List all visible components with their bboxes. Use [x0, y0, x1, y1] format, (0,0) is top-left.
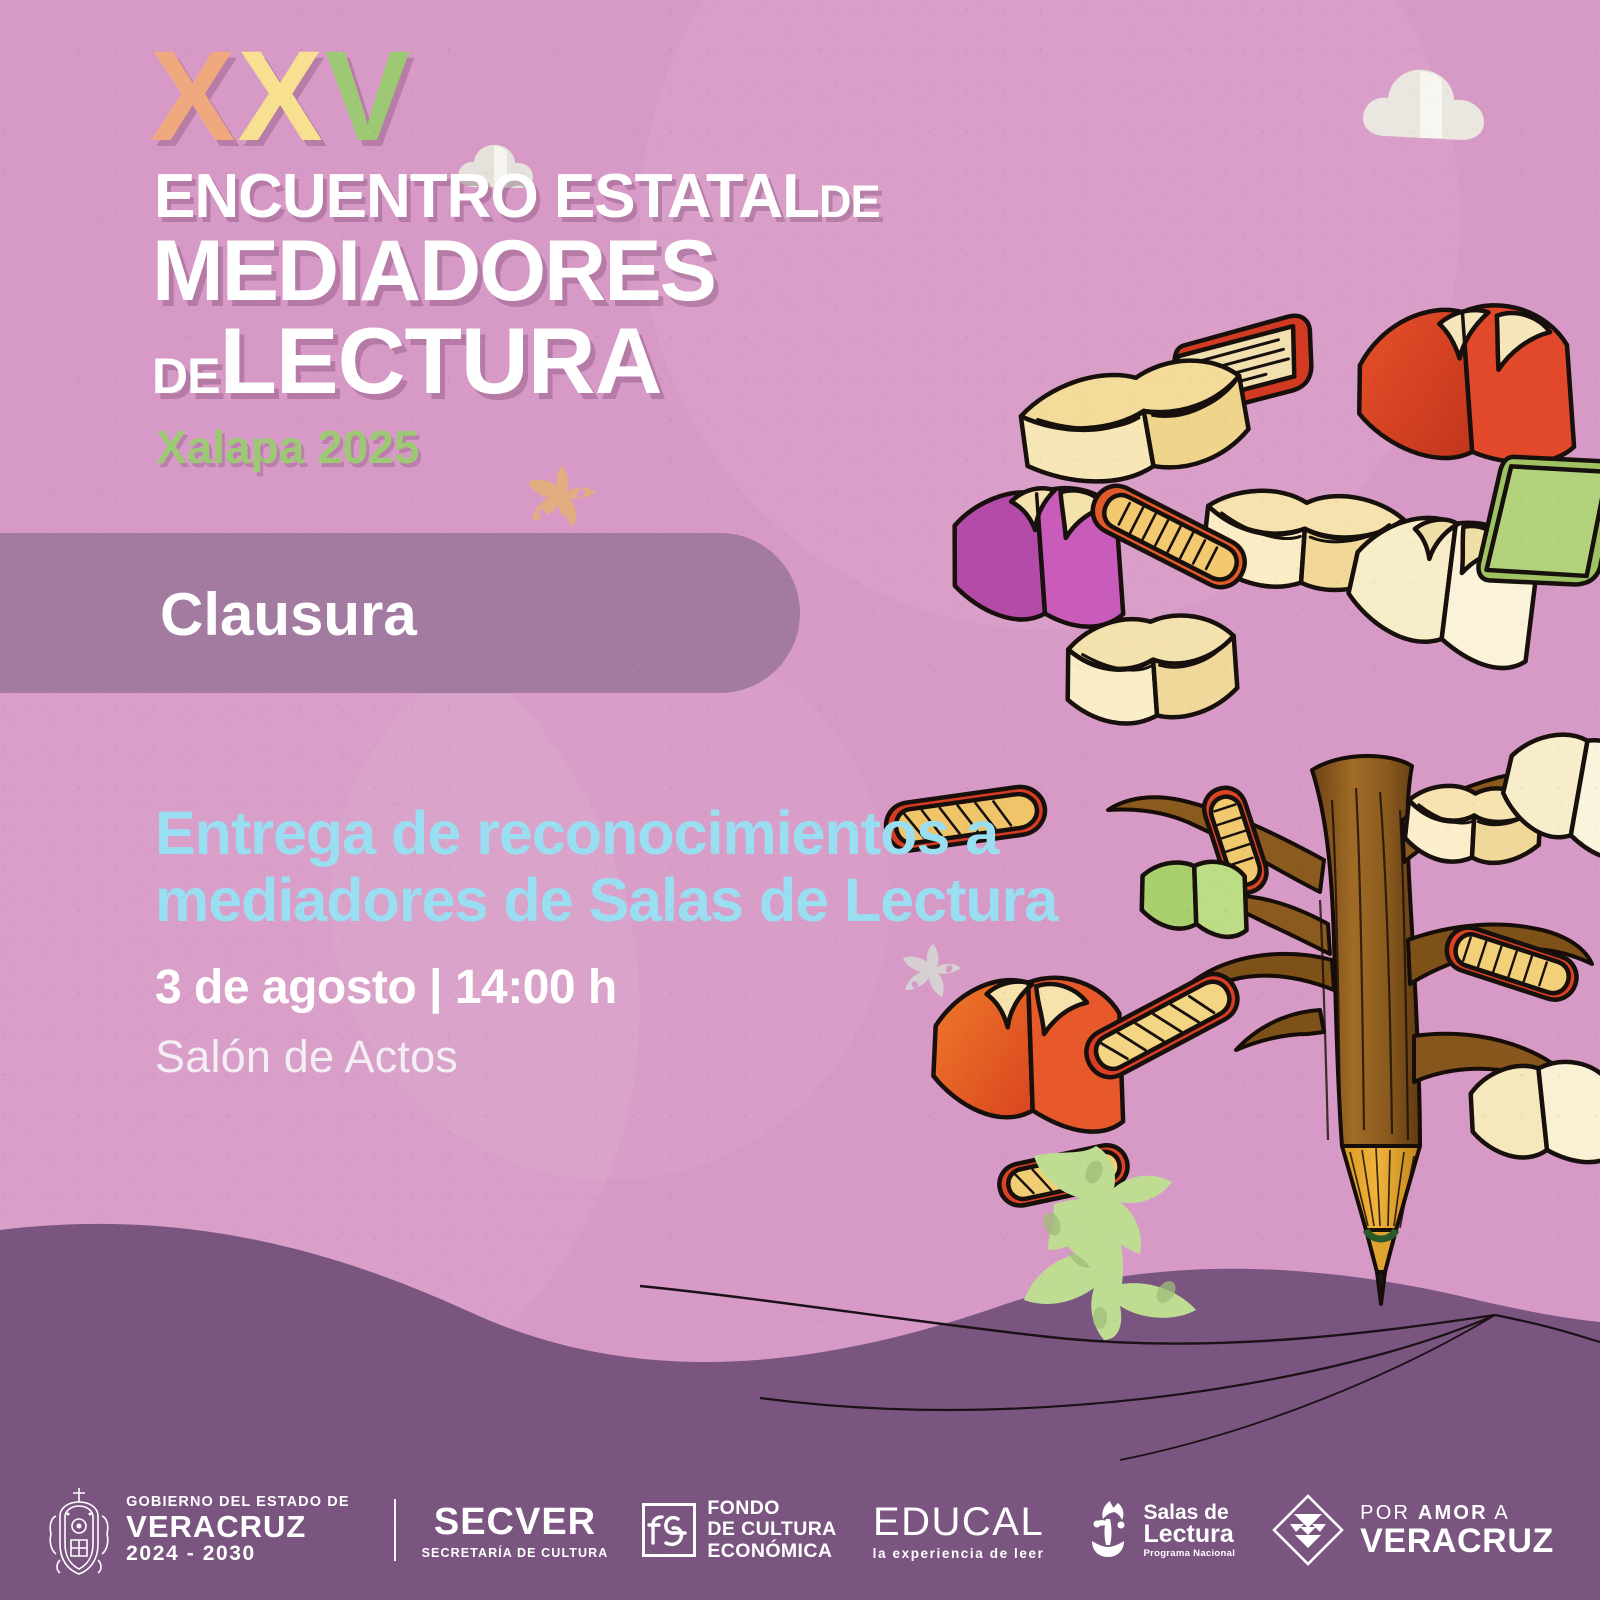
numeral-x1: X [150, 38, 237, 156]
title-de-2: DE [152, 348, 219, 404]
fce-line-2: DE CULTURA [707, 1519, 836, 1540]
veracruz-line-2: VERACRUZ [126, 1511, 349, 1543]
veracruz-coat-of-arms-icon [46, 1482, 112, 1578]
secver-wordmark: SECVER [434, 1501, 596, 1544]
amor-veracruz-diamond-icon [1269, 1491, 1347, 1569]
logo-salas-de-lectura: Salas de Lectura Programa Nacional [1084, 1499, 1235, 1561]
amor-amor: AMOR [1418, 1502, 1488, 1524]
title-encuentro-estatal: ENCUENTRO ESTATAL [154, 162, 819, 231]
title-line-2: MEDIADORES [152, 231, 880, 313]
logo-fce: FONDO DE CULTURA ECONÓMICA [642, 1498, 836, 1561]
masthead: XXV ENCUENTRO ESTATALDE MEDIADORES DELEC… [150, 38, 880, 474]
poster-canvas: XXV ENCUENTRO ESTATALDE MEDIADORES DELEC… [0, 0, 1600, 1600]
footer-logos: GOBIERNO DEL ESTADO DE VERACRUZ 2024 - 2… [0, 1460, 1600, 1600]
amor-por: POR [1360, 1502, 1418, 1524]
event-details: Entrega de reconocimientos a mediadores … [155, 800, 1215, 1083]
salas-line-3: Programa Nacional [1143, 1549, 1235, 1559]
fce-line-1: FONDO [707, 1498, 836, 1519]
title-lectura: LECTURA [219, 308, 661, 413]
fce-line-3: ECONÓMICA [707, 1541, 836, 1562]
event-headline-line-2: mediadores de Salas de Lectura [155, 867, 1215, 934]
event-headline-line-1: Entrega de reconocimientos a [155, 800, 1215, 867]
salas-lectura-plant-icon [1084, 1499, 1134, 1561]
location-year: Xalapa 2025 [156, 420, 880, 474]
amor-a: A [1488, 1502, 1510, 1524]
numeral-x2: X [237, 38, 324, 156]
logo-secver: SECVER SECRETARÍA DE CULTURA [422, 1501, 609, 1560]
logo-educal: EDUCAL la experiencia de leer [873, 1500, 1045, 1561]
section-label-clausura: Clausura [160, 580, 417, 649]
veracruz-line-1: GOBIERNO DEL ESTADO DE [126, 1495, 349, 1510]
salas-line-2: Lectura [1143, 1522, 1235, 1548]
footer-divider [394, 1499, 396, 1561]
secver-subtitle: SECRETARÍA DE CULTURA [422, 1546, 609, 1560]
amor-line-2: VERACRUZ [1360, 1524, 1554, 1558]
logo-por-amor-a-veracruz: POR AMOR A VERACRUZ [1269, 1491, 1554, 1569]
cloud-icon-large [1358, 58, 1488, 150]
title-line-3: DELECTURA [152, 316, 880, 405]
title-line-1: ENCUENTRO ESTATALDE [154, 168, 880, 227]
numeral-v: V [325, 38, 412, 156]
title-de-1: DE [819, 176, 880, 227]
logo-gobierno-veracruz: GOBIERNO DEL ESTADO DE VERACRUZ 2024 - 2… [46, 1482, 349, 1578]
fce-monogram-icon [642, 1503, 696, 1557]
educal-wordmark: EDUCAL [873, 1500, 1044, 1545]
event-date-time: 3 de agosto | 14:00 h [155, 960, 1215, 1015]
event-headline: Entrega de reconocimientos a mediadores … [155, 800, 1215, 934]
amor-line-1: POR AMOR A [1360, 1503, 1554, 1523]
event-venue: Salón de Actos [155, 1031, 1215, 1083]
veracruz-line-3: 2024 - 2030 [126, 1543, 349, 1564]
roman-numeral-xxv: XXV [150, 38, 880, 156]
educal-tagline: la experiencia de leer [873, 1546, 1045, 1561]
